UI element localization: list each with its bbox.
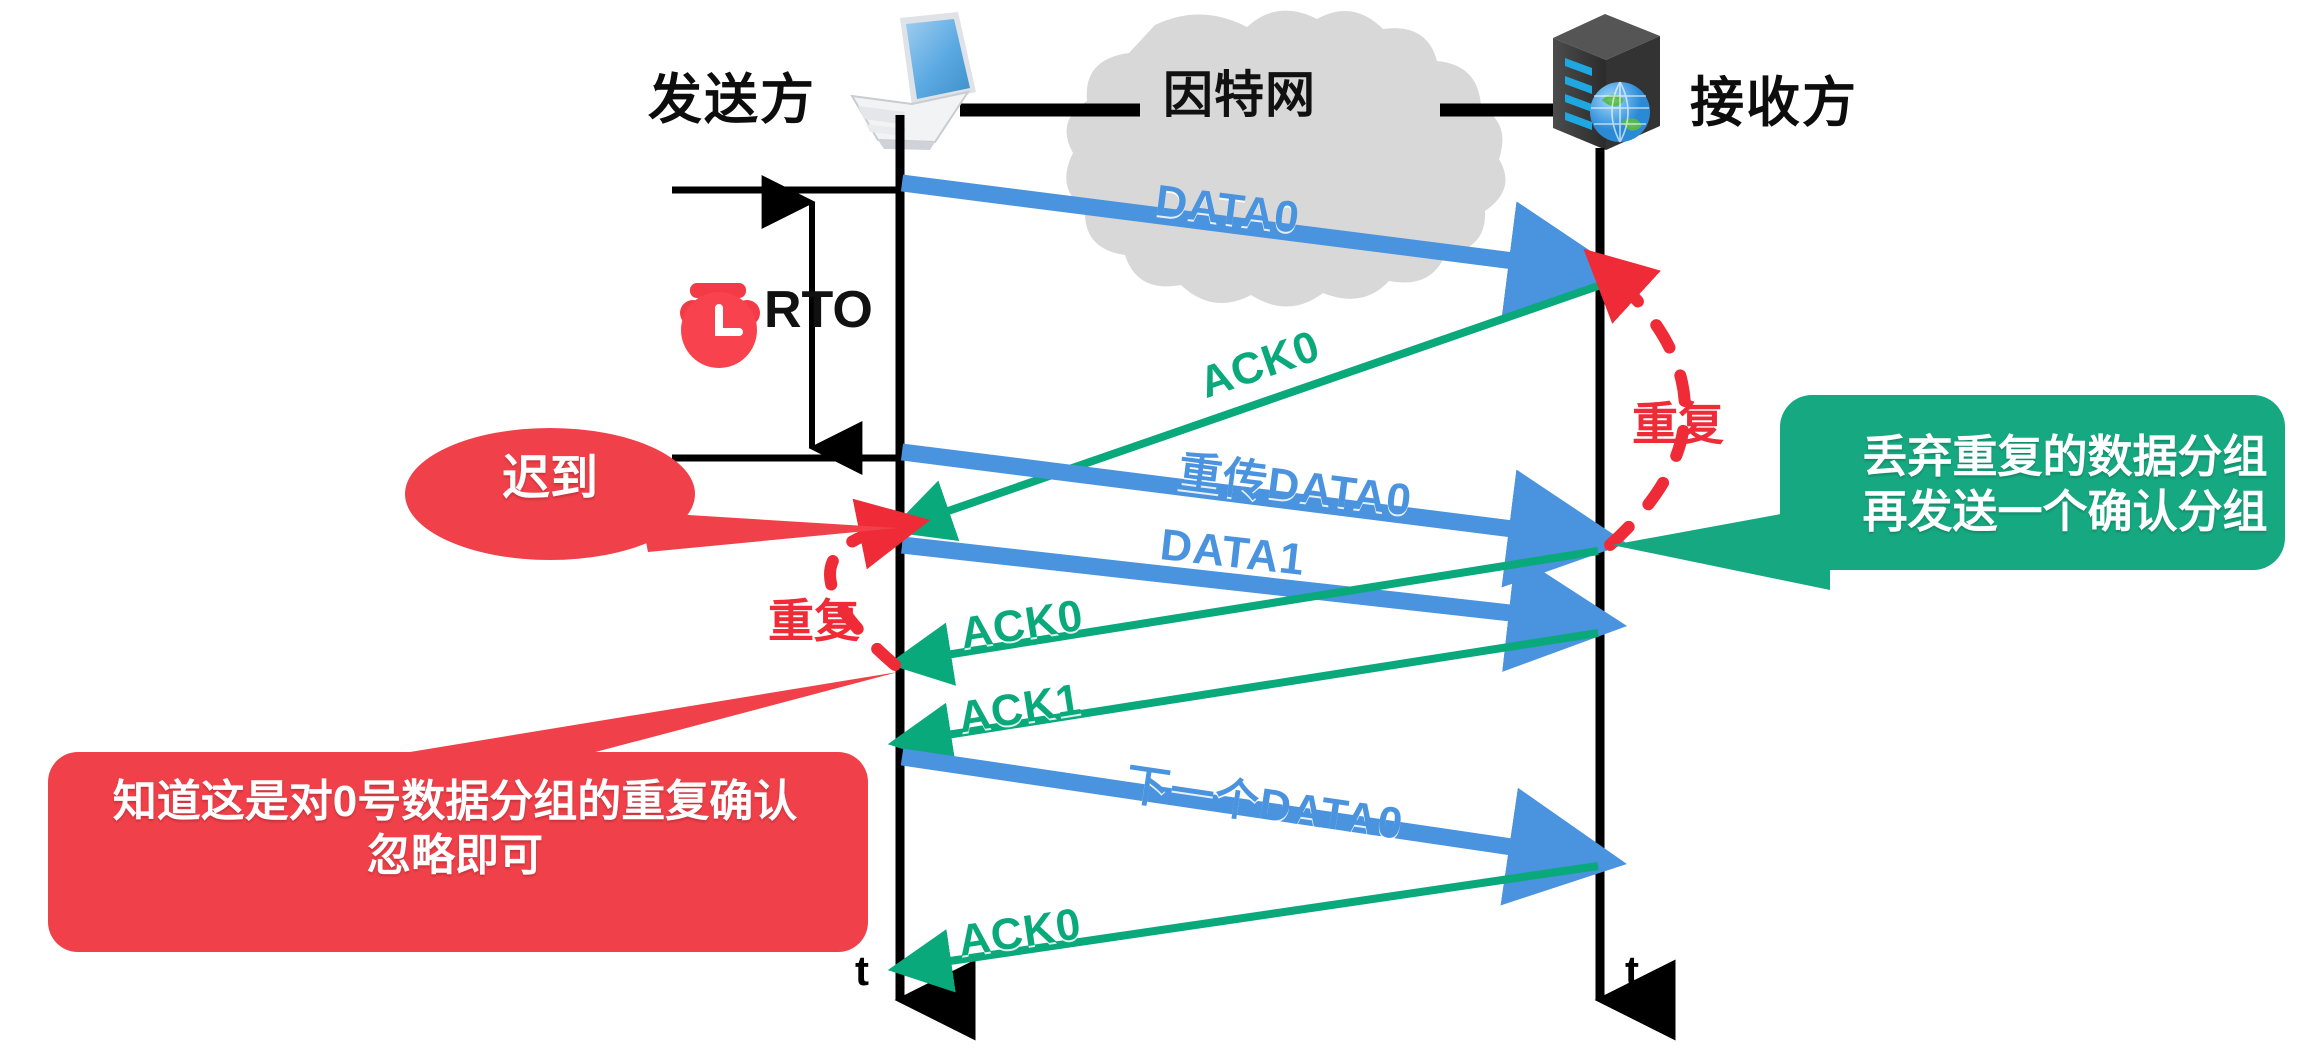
callout-receiver-note-line2: 再发送一个确认分组 [1800, 485, 2315, 540]
callout-receiver-note-text: 丢弃重复的数据分组 再发送一个确认分组 [1800, 430, 2315, 540]
laptop-icon [852, 12, 976, 150]
callout-sender-note-line1: 知道这是对0号数据分组的重复确认 [55, 775, 855, 829]
cloud-label: 因特网 [1163, 55, 1316, 127]
duplicate-label-receiver: 重复 [1632, 388, 1724, 454]
diagram-canvas: 发送方 接收方 因特网 RTO t t DATA0 ACK0 重传DATA0 D… [0, 0, 2315, 1063]
stopwatch-icon [680, 283, 760, 368]
sender-time-axis-label: t [855, 947, 869, 995]
receiver-label: 接收方 [1690, 58, 1858, 137]
server-tower-icon [1553, 14, 1660, 150]
rto-label: RTO [764, 280, 873, 340]
duplicate-label-sender: 重复 [768, 585, 860, 651]
callout-receiver-note-line1: 丢弃重复的数据分组 [1800, 430, 2315, 485]
callout-sender-note-line2: 忽略即可 [55, 829, 855, 883]
sender-label: 发送方 [648, 55, 816, 134]
callout-sender-note-text: 知道这是对0号数据分组的重复确认 忽略即可 [55, 775, 855, 882]
callout-late-text: 迟到 [440, 450, 660, 509]
receiver-time-axis-label: t [1625, 947, 1639, 995]
